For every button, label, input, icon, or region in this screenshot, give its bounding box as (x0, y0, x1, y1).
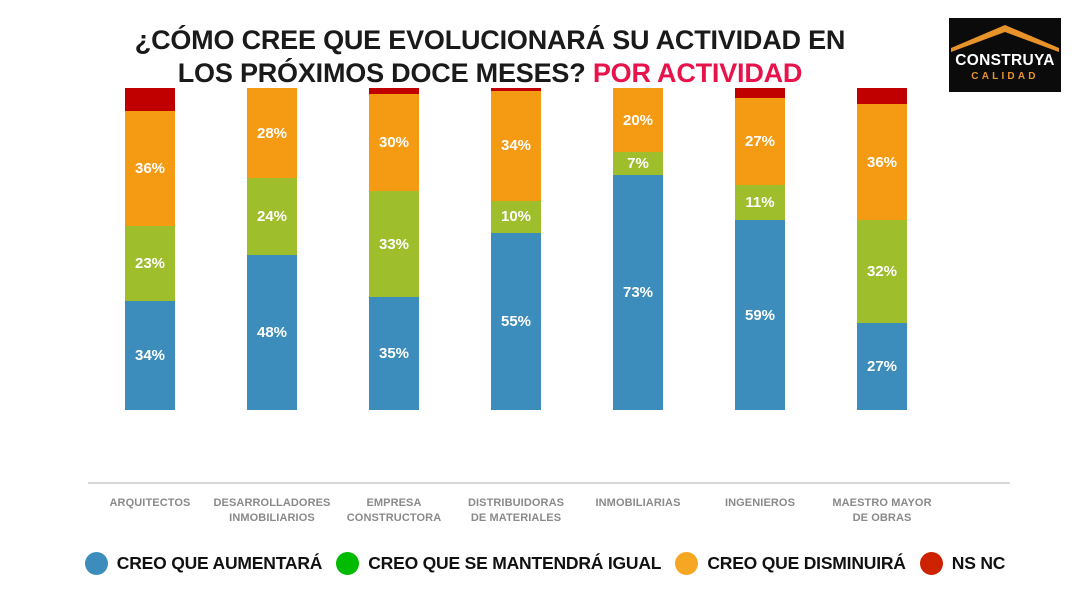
bar-group-arquitectos: 7% 7% 36% 23% 34% ARQUITECTOS (89, 0, 211, 540)
segment-aumentara[interactable]: 35% (369, 297, 419, 410)
category-label: DISTRIBUIDORAS DE MATERIALES (451, 496, 581, 526)
segment-mantendra[interactable]: 10% (491, 201, 541, 233)
segment-disminuira[interactable]: 30% (369, 94, 419, 191)
segment-nsnc[interactable]: 3% (735, 88, 785, 98)
stacked-bar[interactable]: 5% 36% 32% 27% (857, 88, 907, 410)
segment-aumentara[interactable]: 27% (857, 323, 907, 410)
category-label-line1: ARQUITECTOS (85, 496, 215, 511)
segment-value: 55% (501, 314, 531, 329)
segment-mantendra[interactable]: 7% (613, 152, 663, 175)
category-label: ARQUITECTOS (85, 496, 215, 511)
stacked-bar[interactable]: 2% 30% 33% 35% (369, 88, 419, 410)
legend-item-mantendra-igual[interactable]: CREO QUE SE MANTENDRÁ IGUAL (336, 552, 661, 575)
legend-swatch-icon (675, 552, 698, 575)
segment-value: 20% (623, 113, 653, 128)
segment-value: 35% (379, 346, 409, 361)
chart-legend: CREO QUE AUMENTARÁ CREO QUE SE MANTENDRÁ… (0, 552, 1090, 575)
segment-nsnc[interactable]: 7% (125, 88, 175, 111)
segment-value: 33% (379, 237, 409, 252)
segment-disminuira[interactable]: 36% (125, 111, 175, 227)
category-label: INMOBILIARIAS (573, 496, 703, 511)
segment-value: 59% (745, 308, 775, 323)
category-label-line2: DE OBRAS (817, 511, 947, 526)
bar-group-ingenieros: 3% 3% 27% 11% 59% INGENIEROS (699, 0, 821, 540)
stacked-bar[interactable]: 0% 28% 24% 48% (247, 88, 297, 410)
segment-value: 73% (623, 285, 653, 300)
chart-page: ¿CÓMO CREE QUE EVOLUCIONARÁ SU ACTIVIDAD… (0, 0, 1090, 612)
category-label-line2: CONSTRUCTORA (329, 511, 459, 526)
category-label-line1: EMPRESA (329, 496, 459, 511)
category-label-line1: DESARROLLADORES (207, 496, 337, 511)
segment-nsnc[interactable]: 5% (857, 88, 907, 104)
legend-label: NS NC (952, 553, 1005, 574)
segment-aumentara[interactable]: 59% (735, 220, 785, 410)
segment-value: 36% (135, 161, 165, 176)
category-label: EMPRESA CONSTRUCTORA (329, 496, 459, 526)
stacked-bar[interactable]: 3% 27% 11% 59% (735, 88, 785, 410)
segment-mantendra[interactable]: 23% (125, 226, 175, 300)
category-label-line1: INMOBILIARIAS (573, 496, 703, 511)
segment-disminuira[interactable]: 28% (247, 88, 297, 178)
legend-item-ns-nc[interactable]: NS NC (920, 552, 1005, 575)
legend-label: CREO QUE DISMINUIRÁ (707, 553, 905, 574)
segment-value: 30% (379, 135, 409, 150)
segment-aumentara[interactable]: 73% (613, 175, 663, 410)
segment-value: 34% (501, 138, 531, 153)
category-label: INGENIEROS (695, 496, 825, 511)
bar-group-inmobiliarias: 0% 0% 20% 7% 73% INMOBILIARIAS (577, 0, 699, 540)
segment-value: 34% (135, 348, 165, 363)
segment-value: 10% (501, 209, 531, 224)
segment-disminuira[interactable]: 27% (735, 98, 785, 185)
segment-value: 11% (745, 195, 774, 210)
category-label: DESARROLLADORES INMOBILIARIOS (207, 496, 337, 526)
category-label-line2: DE MATERIALES (451, 511, 581, 526)
legend-item-disminuira[interactable]: CREO QUE DISMINUIRÁ (675, 552, 905, 575)
segment-disminuira[interactable]: 20% (613, 88, 663, 152)
stacked-bar[interactable]: 7% 36% 23% 34% (125, 88, 175, 410)
segment-value: 23% (135, 256, 165, 271)
bar-group-desarrolladores-inmobiliarios: 0% 0% 28% 24% 48% DESARROLLADORES INMOBI… (211, 0, 333, 540)
segment-aumentara[interactable]: 55% (491, 233, 541, 410)
segment-mantendra[interactable]: 33% (369, 191, 419, 297)
segment-value: 27% (745, 134, 775, 149)
segment-value: 7% (627, 156, 649, 171)
segment-disminuira[interactable]: 34% (491, 91, 541, 201)
bar-group-empresa-constructora: 2% 2% 30% 33% 35% EMPRESA CONSTRUCTORA (333, 0, 455, 540)
segment-value: 32% (867, 264, 897, 279)
segment-value: 28% (257, 126, 287, 141)
chart-plot-area: 7% 7% 36% 23% 34% ARQUITECTOS 0% 0% 28% … (0, 0, 1090, 612)
segment-mantendra[interactable]: 24% (247, 178, 297, 255)
segment-value: 27% (867, 359, 897, 374)
legend-label: CREO QUE AUMENTARÁ (117, 553, 322, 574)
legend-swatch-icon (920, 552, 943, 575)
legend-label: CREO QUE SE MANTENDRÁ IGUAL (368, 553, 661, 574)
segment-mantendra[interactable]: 11% (735, 185, 785, 220)
category-label-line1: INGENIEROS (695, 496, 825, 511)
segment-disminuira[interactable]: 36% (857, 104, 907, 220)
bar-group-maestro-mayor-de-obras: 5% 5% 36% 32% 27% MAESTRO MAYOR DE OBRAS (821, 0, 943, 540)
segment-aumentara[interactable]: 48% (247, 255, 297, 410)
segment-value: 24% (257, 209, 287, 224)
legend-item-aumentara[interactable]: CREO QUE AUMENTARÁ (85, 552, 322, 575)
category-label: MAESTRO MAYOR DE OBRAS (817, 496, 947, 526)
category-label-line1: DISTRIBUIDORAS (451, 496, 581, 511)
bar-group-distribuidoras-de-materiales: 1% 1% 34% 10% 55% DISTRIBUIDORAS DE MATE… (455, 0, 577, 540)
legend-swatch-icon (85, 552, 108, 575)
segment-value: 48% (257, 325, 287, 340)
legend-swatch-icon (336, 552, 359, 575)
stacked-bar[interactable]: 0% 20% 7% 73% (613, 88, 663, 410)
category-label-line2: INMOBILIARIOS (207, 511, 337, 526)
stacked-bar[interactable]: 1% 34% 10% 55% (491, 88, 541, 410)
segment-aumentara[interactable]: 34% (125, 301, 175, 411)
category-label-line1: MAESTRO MAYOR (817, 496, 947, 511)
segment-mantendra[interactable]: 32% (857, 220, 907, 323)
segment-value: 36% (867, 155, 897, 170)
